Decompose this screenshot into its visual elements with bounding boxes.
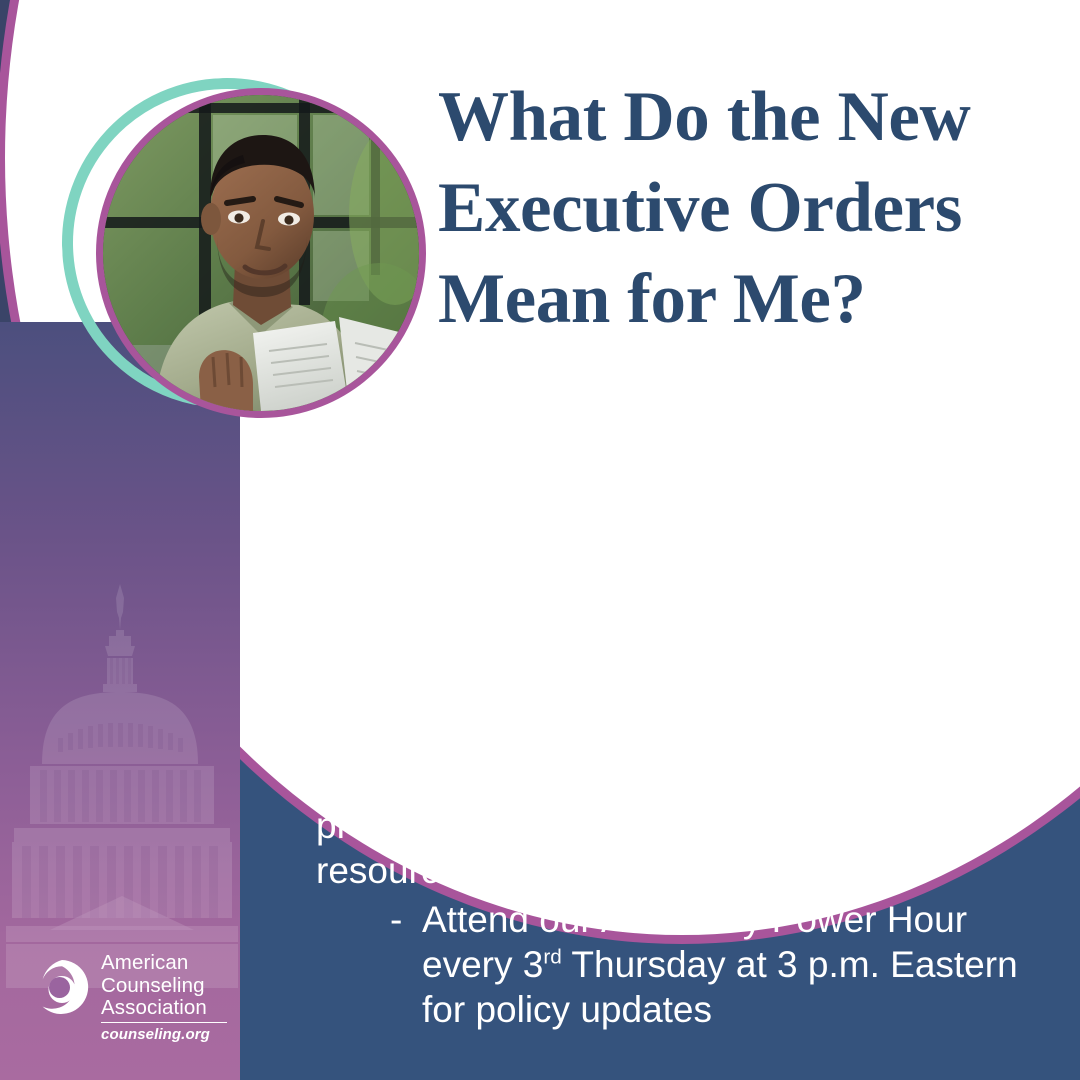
aca-word-line-2: Counseling	[101, 975, 233, 998]
sub-bullet-text-1a: Pending lawsuits may impact the scope an…	[422, 591, 996, 722]
aca-website-url: counseling.org	[101, 1026, 233, 1043]
sub-bullet-item-1a: - Pending lawsuits may impact the scope …	[316, 589, 1022, 724]
bullet-item-1: The full impact of the recent executive …	[282, 495, 1022, 724]
dash-marker-icon: -	[390, 897, 402, 942]
bullet-group-spacer	[282, 730, 1022, 758]
sub-bullet-item-2a: - Attend our Advocacy Power Hour every 3…	[316, 897, 1022, 1032]
poster-canvas: What Do the New Executive Orders Mean fo…	[0, 0, 1080, 1080]
bullet-text-2: ACA is monitoring these orders and will …	[316, 760, 960, 891]
bullet-content: The full impact of the recent executive …	[282, 495, 1022, 1038]
sub-bullet-list-2: - Attend our Advocacy Power Hour every 3…	[316, 897, 1022, 1032]
hero-photo	[103, 95, 419, 411]
ordinal-suffix: rd	[543, 946, 561, 969]
bullet-dot-icon	[287, 513, 296, 522]
capitol-dome-watermark-icon	[6, 578, 238, 988]
sub-bullet-list-1: - Pending lawsuits may impact the scope …	[316, 589, 1022, 724]
title-line-3: Mean for Me?	[438, 254, 1038, 345]
aca-logo: American Counseling Association counseli…	[33, 952, 233, 1052]
aca-word-line-1: American	[101, 952, 233, 975]
bullet-item-2: ACA is monitoring these orders and will …	[282, 758, 1022, 1032]
aca-ring-logo-icon	[33, 958, 91, 1016]
dash-marker-icon: -	[390, 589, 402, 634]
page-title: What Do the New Executive Orders Mean fo…	[438, 72, 1038, 345]
bullet-text-1: The full impact of the recent executive …	[316, 497, 939, 583]
title-line-1: What Do the New	[438, 72, 1038, 163]
bullet-list: The full impact of the recent executive …	[282, 495, 1022, 1032]
aca-word-line-3: Association	[101, 997, 233, 1020]
title-line-2: Executive Orders	[438, 163, 1038, 254]
aca-divider-rule	[101, 1022, 227, 1024]
bullet-dot-icon	[287, 776, 296, 785]
aca-wordmark: American Counseling Association counseli…	[101, 952, 233, 1043]
